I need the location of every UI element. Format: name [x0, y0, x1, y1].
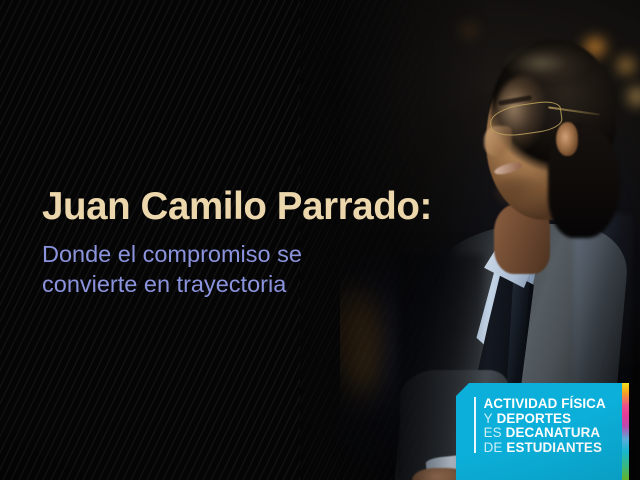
- badge-line-lead: Y: [484, 412, 493, 427]
- badge-line-strong: ACTIVIDAD FÍSICA: [484, 397, 606, 412]
- badge-line-strong: DECANATURA: [506, 426, 600, 441]
- headline: Juan Camilo Parrado:: [42, 186, 482, 228]
- badge-line-lead: DE: [484, 441, 503, 456]
- badge-line-strong: DEPORTES: [497, 412, 571, 427]
- banner-graphic: Juan Camilo Parrado: Donde el compromiso…: [0, 0, 640, 480]
- badge-text-lines: ACTIVIDAD FÍSICAYDEPORTESESDECANATURADEE…: [484, 397, 606, 455]
- badge-line-lead: ES: [484, 426, 502, 441]
- badge-line-strong: ESTUDIANTES: [506, 441, 602, 456]
- text-block: Juan Camilo Parrado: Donde el compromiso…: [42, 186, 482, 300]
- badge-line: YDEPORTES: [484, 412, 606, 427]
- badge-line: DEESTUDIANTES: [484, 441, 606, 456]
- badge-line: ESDECANATURA: [484, 426, 606, 441]
- badge-content: ACTIVIDAD FÍSICAYDEPORTESESDECANATURADEE…: [474, 397, 606, 455]
- logo-badge: ACTIVIDAD FÍSICAYDEPORTESESDECANATURADEE…: [456, 383, 640, 480]
- subheadline: Donde el compromiso se convierte en tray…: [42, 239, 342, 300]
- chin-shadow: [494, 176, 546, 210]
- badge-rainbow-strip: [622, 383, 629, 480]
- ear: [556, 122, 578, 156]
- badge-line: ACTIVIDAD FÍSICA: [484, 397, 606, 412]
- badge-divider-rule: [474, 397, 476, 453]
